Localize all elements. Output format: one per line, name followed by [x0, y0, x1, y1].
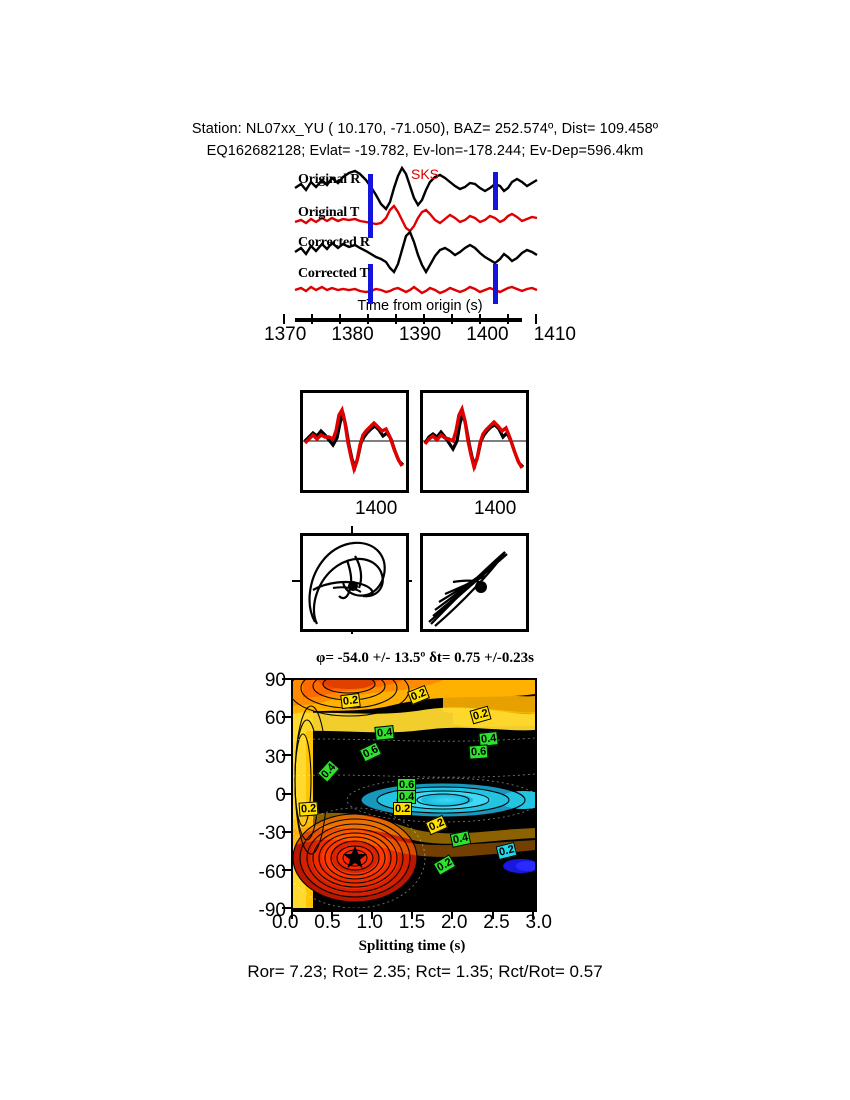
- time-tick-label: 1400: [466, 324, 508, 346]
- y-tick-label: -60: [259, 862, 286, 884]
- y-tick-label: 60: [265, 708, 286, 730]
- time-axis-tick-labels: 1370 1380 1390 1400 1410: [264, 324, 576, 346]
- contour-y-tick: [282, 831, 291, 833]
- corrected-waveform-box-left: [300, 390, 409, 493]
- contour-x-tick: [451, 910, 453, 919]
- contour-y-tick: [282, 869, 291, 871]
- y-tick-label: 30: [265, 747, 286, 769]
- time-tick-label: 1410: [534, 324, 576, 346]
- contour-x-axis-label: Splitting time (s): [291, 938, 533, 955]
- x-tick-label: 2.5: [483, 912, 509, 934]
- seismogram-trace-panel: Original R Original T Corrected R Correc…: [270, 160, 560, 320]
- time-axis-tick: [395, 314, 397, 324]
- time-axis-tick: [423, 314, 425, 324]
- time-tick-label: 1370: [264, 324, 306, 346]
- time-axis-tick: [479, 314, 481, 324]
- window-start-marker: [368, 174, 373, 214]
- time-axis-tick: [535, 314, 537, 324]
- contour-y-tick-labels: 90 60 30 0 -30 -60 -90: [230, 670, 286, 916]
- contour-label: 0.2: [393, 802, 412, 816]
- hodogram-tick: [292, 580, 300, 582]
- window-end-marker: [493, 264, 498, 304]
- contour-x-tick: [532, 910, 534, 919]
- contour-x-tick: [492, 910, 494, 919]
- contour-label: 0.2: [340, 693, 361, 709]
- contour-y-tick: [282, 716, 291, 718]
- window-start-marker: [368, 210, 373, 238]
- time-axis-tick: [283, 314, 285, 324]
- time-axis-title: Time from origin (s): [270, 298, 570, 314]
- contour-label: 0.2: [299, 801, 319, 816]
- y-tick-label: 90: [265, 670, 286, 692]
- contour-y-tick: [282, 793, 291, 795]
- particle-motion-ellipse: [303, 536, 406, 629]
- corrected-waveform-box-right: [420, 390, 529, 493]
- time-tick-label: 1390: [399, 324, 441, 346]
- trace-label-corrected-r: Corrected R: [298, 235, 370, 251]
- time-axis-tick: [451, 314, 453, 324]
- x-tick-label: 2.0: [441, 912, 467, 934]
- trace-label-corrected-t: Corrected T: [298, 266, 369, 282]
- y-tick-label: -30: [259, 823, 286, 845]
- x-tick-label: 0.5: [314, 912, 340, 934]
- wavebox-left-time-label: 1400: [355, 498, 397, 520]
- particle-motion-linear: [423, 536, 526, 629]
- sks-phase-label: SKS: [411, 166, 439, 182]
- time-axis-tick: [507, 314, 509, 324]
- window-end-marker: [493, 172, 498, 210]
- wavebox-right-time-label: 1400: [474, 498, 516, 520]
- header-line-station: Station: NL07xx_YU ( 10.170, -71.050), B…: [0, 118, 850, 140]
- particle-motion-after: [420, 533, 529, 632]
- contour-x-tick: [411, 910, 413, 919]
- contour-y-tick: [282, 678, 291, 680]
- contour-label: 0.6: [469, 744, 489, 759]
- contour-y-tick: [282, 754, 291, 756]
- quality-metrics-footer: Ror= 7.23; Rot= 2.35; Rct= 1.35; Rct/Rot…: [0, 962, 850, 982]
- time-axis-tick: [367, 314, 369, 324]
- time-axis: Time from origin (s) 1370 1380 1390 1400…: [270, 300, 570, 360]
- y-tick-label: 0: [275, 785, 286, 807]
- splitting-result-title: φ= -54.0 +/- 13.5º δt= 0.75 +/-0.23s: [200, 650, 650, 667]
- time-axis-line: [295, 318, 522, 322]
- time-axis-tick: [311, 314, 313, 324]
- fast-slow-overlay-left: [303, 393, 406, 490]
- x-tick-label: 1.0: [357, 912, 383, 934]
- header-line-event: EQ162682128; Evlat= -19.782, Ev-lon=-178…: [0, 140, 850, 162]
- contour-x-tick: [371, 910, 373, 919]
- time-axis-tick: [339, 314, 341, 324]
- contour-x-tick: [291, 910, 293, 919]
- contour-label: 0.4: [374, 725, 395, 741]
- trace-corrected-t: [295, 287, 537, 293]
- trace-label-original-t: Original T: [298, 205, 359, 221]
- fast-slow-overlay-right: [423, 393, 526, 490]
- splitting-error-contour-plot: 0.2 0.2 0.2 0.4 0.4 0.6 0.6 0.4 0.6 0.4 …: [291, 678, 537, 912]
- contour-x-axis-line: [291, 908, 535, 910]
- contour-y-tick: [282, 907, 291, 909]
- trace-label-original-r: Original R: [298, 172, 360, 188]
- time-tick-label: 1380: [331, 324, 373, 346]
- x-tick-label: 0.0: [272, 912, 298, 934]
- x-tick-label: 3.0: [526, 912, 552, 934]
- header-block: Station: NL07xx_YU ( 10.170, -71.050), B…: [0, 118, 850, 162]
- particle-motion-before: [300, 533, 409, 632]
- contour-x-tick: [331, 910, 333, 919]
